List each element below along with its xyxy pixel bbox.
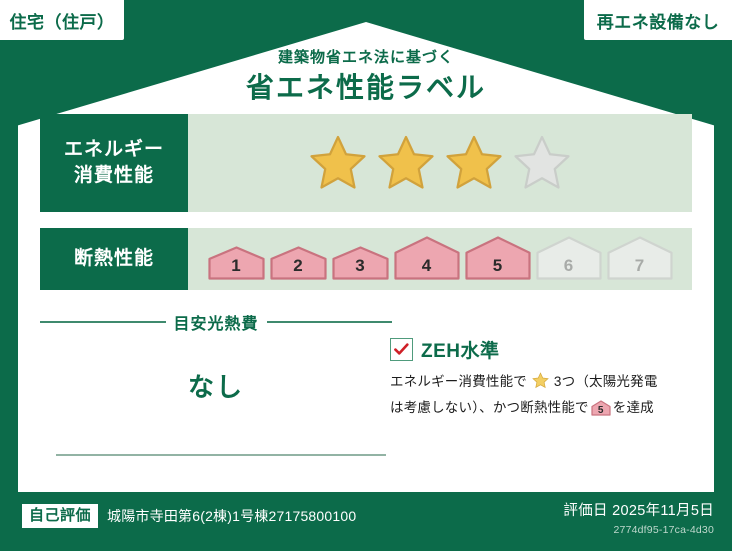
building-type-tag: 住宅（住戸） xyxy=(0,0,124,40)
zeh-desc-line2-a: は考慮しない）、かつ断熱性能で xyxy=(390,400,589,415)
cost-underline-divider xyxy=(56,454,386,456)
star-filled-icon xyxy=(443,133,505,193)
star-filled-icon xyxy=(375,133,437,193)
insulation-performance-value: 1234567 xyxy=(188,228,692,290)
evaluation-id: 2774df95-17ca-4d30 xyxy=(563,522,714,538)
utility-cost-heading: 目安光熱費 xyxy=(40,310,392,334)
insulation-performance-label-text: 断熱性能 xyxy=(74,246,154,272)
energy-consumption-label: エネルギー 消費性能 xyxy=(40,114,188,212)
cost-rule-left xyxy=(40,321,166,323)
star-rating xyxy=(307,133,573,193)
insulation-level-7: 7 xyxy=(607,236,673,280)
renewable-energy-tag-label: 再エネ設備なし xyxy=(597,8,720,33)
insulation-level-scale: 1234567 xyxy=(208,236,673,282)
insulation-level-1: 1 xyxy=(208,246,265,280)
insulation-level-3: 3 xyxy=(332,246,389,280)
footer-left-group: 自己評価 城陽市寺田第6(2棟)1号棟27175800100 xyxy=(22,504,356,528)
utility-cost-value: なし xyxy=(40,367,392,404)
zeh-title: ZEH水準 xyxy=(421,336,500,363)
insulation-performance-label: 断熱性能 xyxy=(40,228,188,290)
energy-consumption-value xyxy=(188,114,692,212)
property-name: 城陽市寺田第6(2棟)1号棟27175800100 xyxy=(107,506,356,526)
zeh-description: エネルギー消費性能で 3つ（太陽光発電 は考慮しない）、かつ断熱性能で 5 を達… xyxy=(390,370,694,423)
insulation-level-2: 2 xyxy=(270,246,327,280)
label-footer: 自己評価 城陽市寺田第6(2棟)1号棟27175800100 評価日 2025年… xyxy=(0,492,732,551)
energy-consumption-label-line1: エネルギー xyxy=(64,137,164,163)
star-filled-icon xyxy=(307,133,369,193)
zeh-desc-line1-a: エネルギー消費性能で xyxy=(390,374,527,389)
insulation-level-5: 5 xyxy=(465,236,531,280)
energy-performance-label: 住宅（住戸） 再エネ設備なし 建築物省エネ法に基づく 省エネ性能ラベル エネルギ… xyxy=(0,0,732,551)
insulation-level-6: 6 xyxy=(536,236,602,280)
insulation-performance-row: 断熱性能 1234567 xyxy=(40,228,692,290)
check-icon xyxy=(390,338,413,361)
label-panel: 建築物省エネ法に基づく 省エネ性能ラベル エネルギー 消費性能 断熱性能 123… xyxy=(18,22,714,492)
house-badge-number: 5 xyxy=(591,399,611,422)
zeh-desc-line1-b: 3つ（太陽光発電 xyxy=(554,374,658,389)
zeh-desc-line2-b: を達成 xyxy=(613,400,654,415)
footer-right-group: 評価日 2025年11月5日 2774df95-17ca-4d30 xyxy=(563,502,714,538)
energy-consumption-row: エネルギー 消費性能 xyxy=(40,114,692,212)
cost-rule-right xyxy=(267,321,393,323)
title-subtitle: 建築物省エネ法に基づく xyxy=(18,48,714,68)
insulation-level-4: 4 xyxy=(394,236,460,280)
house-badge-icon: 5 xyxy=(591,400,611,423)
self-evaluation-badge: 自己評価 xyxy=(22,504,98,528)
renewable-energy-tag: 再エネ設備なし xyxy=(584,0,732,40)
zeh-heading: ZEH水準 xyxy=(390,336,694,363)
star-empty-icon xyxy=(511,133,573,193)
page-title: 建築物省エネ法に基づく 省エネ性能ラベル xyxy=(18,48,714,106)
utility-cost-title: 目安光熱費 xyxy=(174,310,259,334)
energy-consumption-label-line2: 消費性能 xyxy=(74,163,154,189)
building-type-tag-label: 住宅（住戸） xyxy=(10,8,115,33)
evaluation-date: 評価日 2025年11月5日 xyxy=(563,502,714,521)
title-main: 省エネ性能ラベル xyxy=(18,70,714,106)
star-icon xyxy=(528,377,553,392)
zeh-standard-block: ZEH水準 エネルギー消費性能で 3つ（太陽光発電 は考慮しない）、かつ断熱性能… xyxy=(390,336,694,423)
